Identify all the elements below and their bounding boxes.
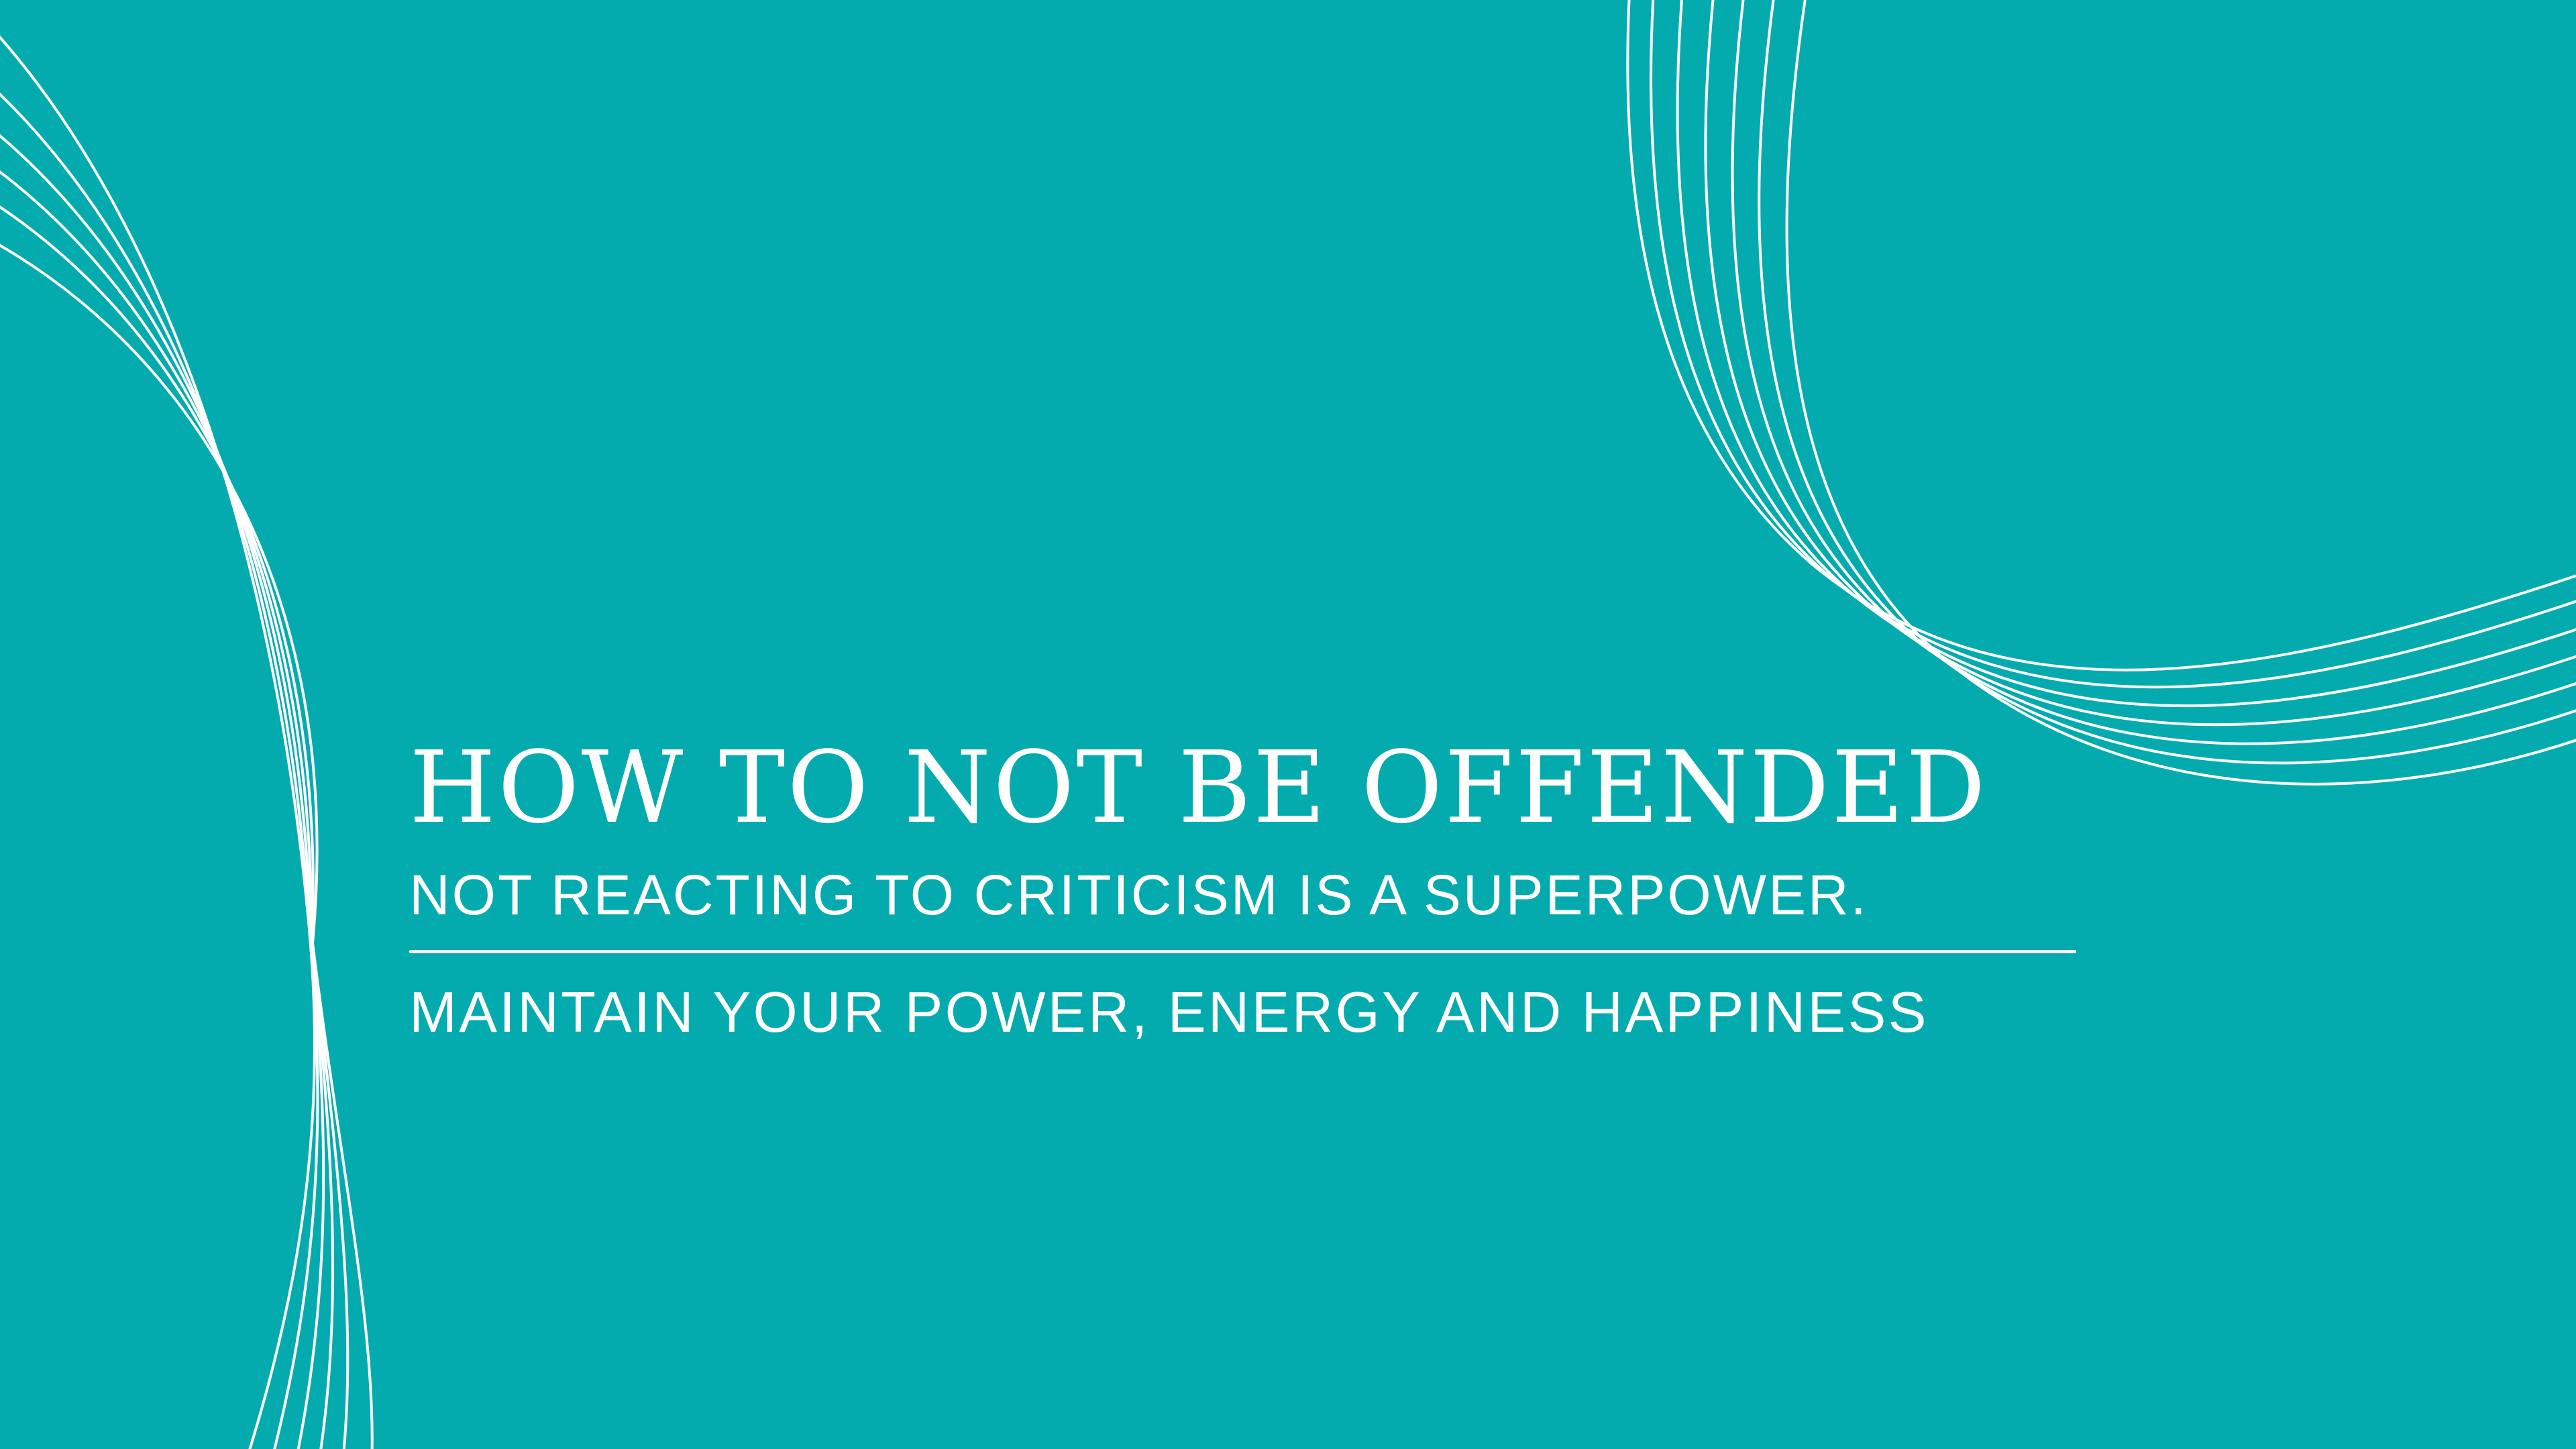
right-decorative-swirl — [0, 0, 2576, 1449]
text-block: HOW TO NOT BE OFFENDED NOT REACTING TO C… — [409, 738, 2153, 1041]
left-decorative-swirl — [0, 0, 2576, 1449]
horizontal-rule — [409, 950, 2076, 953]
slide-canvas: HOW TO NOT BE OFFENDED NOT REACTING TO C… — [0, 0, 2576, 1449]
page-tagline: MAINTAIN YOUR POWER, ENERGY AND HAPPINES… — [409, 984, 2153, 1041]
page-title: HOW TO NOT BE OFFENDED — [409, 738, 2153, 837]
page-subtitle: NOT REACTING TO CRITICISM IS A SUPERPOWE… — [409, 867, 2153, 923]
